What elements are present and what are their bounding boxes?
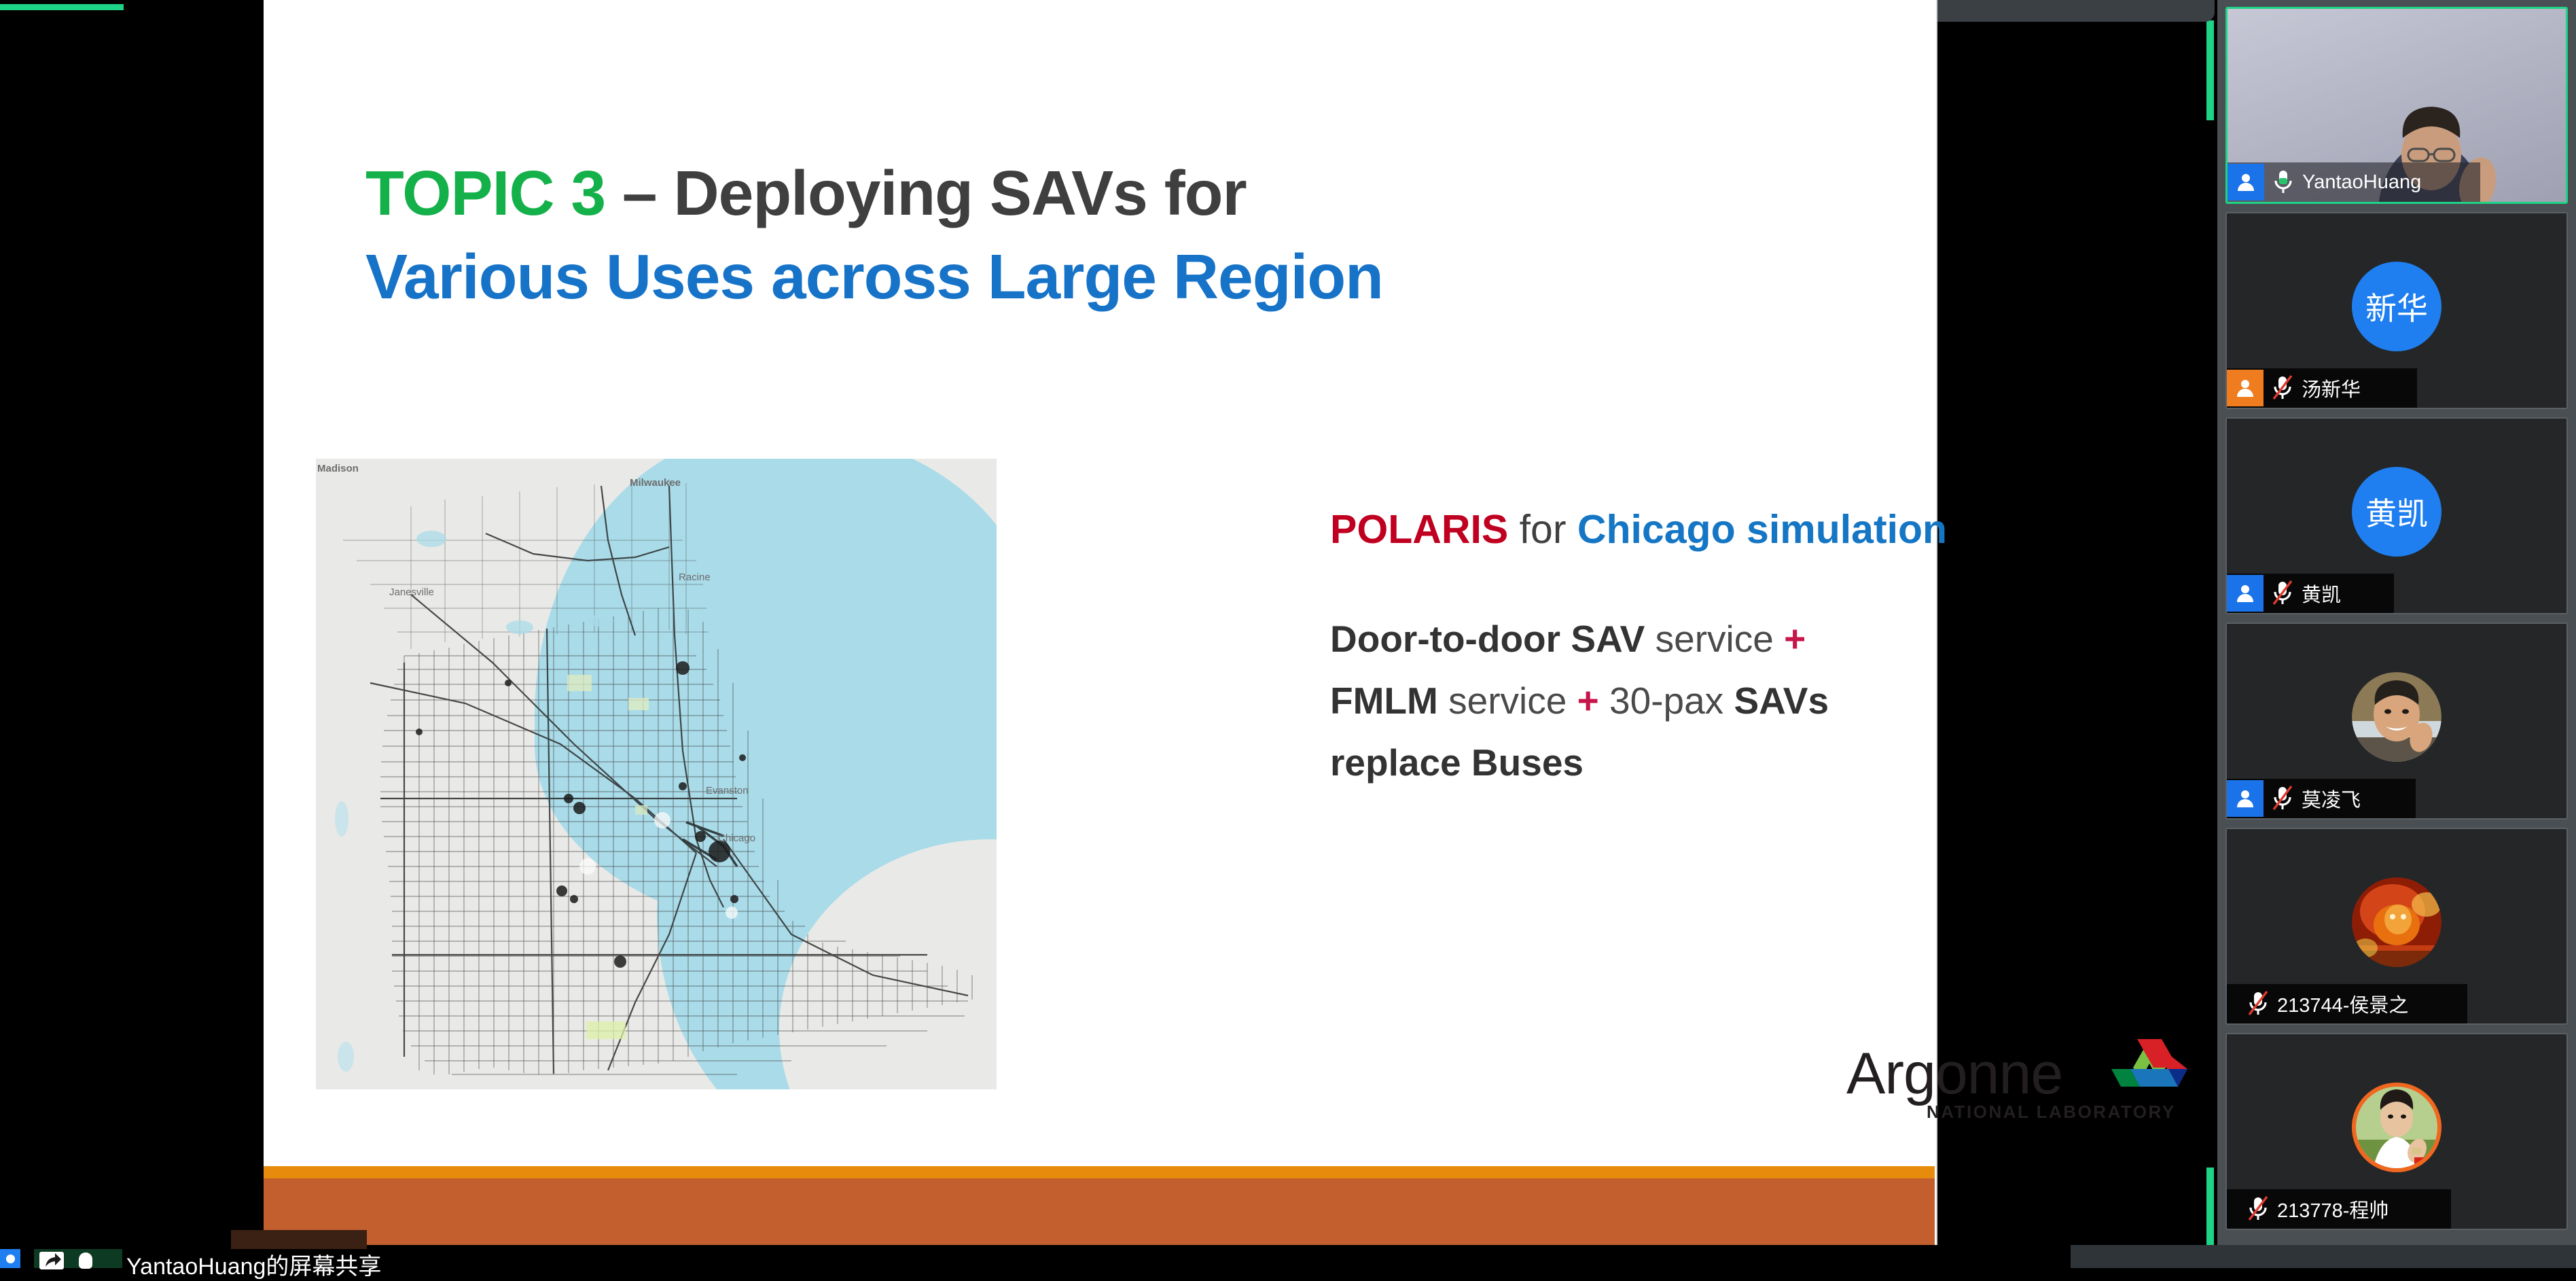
body-line2-plus: + (1577, 680, 1599, 722)
screen-root: TOPIC 3 – Deploying SAVs for Various Use… (0, 0, 2576, 1268)
avatar-initials: 黄凯 (2365, 489, 2428, 534)
body-line1-plus: + (1784, 618, 1806, 660)
share-arrow-icon (39, 1252, 64, 1269)
participant-name-bar: 213778-程帅 (2227, 1189, 2451, 1229)
participant-tile[interactable]: 黄凯 黄凯 (2225, 417, 2568, 614)
body-line2-c: 30-pax (1599, 680, 1734, 722)
map-label-racine: Racine (679, 572, 711, 583)
participant-name: 213778-程帅 (2277, 1195, 2389, 1223)
body-line2-a: FMLM (1330, 680, 1438, 722)
screen-share-border-right-top (2206, 20, 2214, 120)
avatar-photo (2352, 877, 2441, 967)
microphone-muted-icon[interactable] (2264, 580, 2302, 607)
participant-tile[interactable]: 213778-程帅 (2225, 1033, 2568, 1230)
person-icon (2228, 164, 2264, 200)
heading-polaris: POLARIS (1330, 507, 1508, 552)
avatar (2352, 672, 2441, 762)
participant-name: 213744-侯景之 (2277, 989, 2408, 1018)
chicago-network-map: Madison Milwaukee Janesville Racine Evan… (316, 459, 997, 1089)
status-chip-background (231, 1230, 367, 1249)
microphone-muted-icon[interactable] (2264, 374, 2302, 402)
avatar-photo (2352, 672, 2441, 762)
map-label-madison: Madison (317, 463, 359, 474)
participant-name: YantaoHuang (2302, 171, 2421, 194)
slide-accent-bar-dark (264, 1178, 1935, 1245)
avatar: 新华 (2352, 262, 2441, 351)
participant-name-bar: 213744-侯景之 (2227, 984, 2467, 1023)
heading-chicago: Chicago simulation (1577, 507, 1947, 552)
microphone-icon (79, 1252, 92, 1269)
avatar-initials: 新华 (2365, 284, 2428, 329)
microphone-muted-icon[interactable] (2239, 990, 2277, 1017)
bottom-bar-right-segment (2071, 1245, 2576, 1268)
microphone-muted-icon[interactable] (2239, 1195, 2277, 1223)
person-icon (2227, 370, 2264, 406)
body-line1-b: service (1645, 618, 1784, 660)
slide-title-topic: TOPIC 3 (365, 158, 605, 228)
participant-name: 汤新华 (2302, 374, 2361, 402)
map-label-evanston: Evanston (706, 785, 749, 796)
participant-tile[interactable]: YantaoHuang (2225, 7, 2568, 204)
map-label-milwaukee: Milwaukee (630, 477, 681, 489)
argonne-logo: Argonne NATIONAL LABORATORY (1846, 1036, 2193, 1125)
body-line2-d: SAVs (1734, 680, 1829, 722)
participant-name: 黄凯 (2302, 579, 2341, 608)
avatar (2352, 1083, 2441, 1172)
screen-share-icon[interactable] (34, 1249, 122, 1268)
slide-title: TOPIC 3 – Deploying SAVs for Various Use… (365, 152, 1901, 319)
argonne-wordmark: Argonne (1846, 1040, 2062, 1108)
participant-tile[interactable]: 莫凌飞 (2225, 622, 2568, 820)
avatar (2352, 877, 2441, 967)
share-status-text: YantaoHuang的屏幕共享 (126, 1248, 381, 1281)
participant-strip[interactable]: YantaoHuang 新华 (2217, 0, 2576, 1268)
map-label-chicago: Chicago (718, 832, 755, 844)
road-network-svg (316, 459, 997, 1089)
avatar: 黄凯 (2352, 467, 2441, 557)
participant-name: 莫凌飞 (2302, 784, 2361, 813)
person-icon (2227, 575, 2264, 612)
screen-share-border-top (0, 4, 124, 10)
map-label-janesville: Janesville (389, 586, 434, 598)
shared-slide: TOPIC 3 – Deploying SAVs for Various Use… (264, 0, 1937, 1245)
slide-accent-bar-bright (264, 1166, 1935, 1178)
participant-name-bar: 莫凌飞 (2227, 779, 2416, 818)
argonne-triangle-icon (2106, 1036, 2193, 1117)
slide-title-part-dark: Deploying SAVs for (673, 158, 1246, 228)
body-line2-b: service (1438, 680, 1577, 722)
slide-title-part-blue: Various Uses across Large Region (365, 241, 1383, 312)
participant-name-bar: 汤新华 (2227, 368, 2417, 408)
avatar-photo (2352, 1083, 2441, 1172)
body-line3: replace Buses (1330, 741, 1584, 784)
participant-name-bar: 黄凯 (2227, 574, 2394, 613)
slide-heading: POLARIS for Chicago simulation (1330, 506, 1947, 552)
slide-title-dash: – (605, 158, 673, 228)
person-icon (2227, 780, 2264, 817)
microphone-icon[interactable] (2264, 169, 2302, 196)
participant-name-bar: YantaoHuang (2228, 162, 2480, 202)
heading-for: for (1508, 507, 1577, 552)
participant-tile[interactable]: 213744-侯景之 (2225, 828, 2568, 1025)
body-line1-a: Door-to-door SAV (1330, 618, 1645, 660)
recording-dot-icon[interactable] (0, 1249, 20, 1268)
microphone-muted-icon[interactable] (2264, 785, 2302, 812)
participant-tile[interactable]: 新华 汤新华 (2225, 212, 2568, 409)
slide-body-text: Door-to-door SAV service + FMLM service … (1330, 608, 2091, 793)
